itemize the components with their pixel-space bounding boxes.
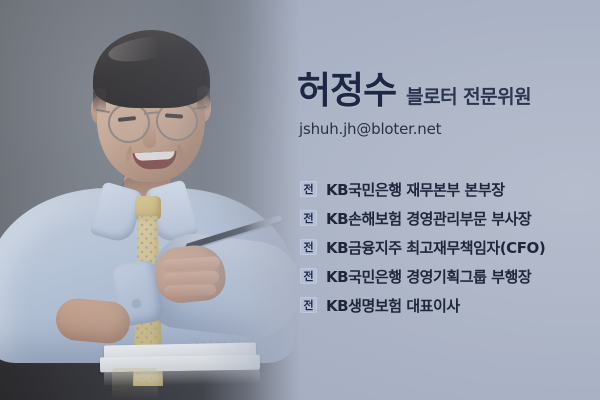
former-badge: 전 <box>300 210 317 226</box>
career-text: KB금융지주 최고재무책임자(CFO) <box>326 237 545 258</box>
former-badge: 전 <box>300 297 317 313</box>
photo-color-grade <box>0 0 300 400</box>
email-address[interactable]: jshuh.jh@bloter.net <box>299 120 441 138</box>
list-item: 전 KB금융지주 최고재무책임자(CFO) <box>300 234 600 260</box>
name-row: 허정수 블로터 전문위원 <box>297 72 531 109</box>
person-role: 블로터 전문위원 <box>406 88 531 107</box>
list-item: 전 KB국민은행 경영기획그룹 부행장 <box>300 263 600 289</box>
list-item: 전 KB생명보험 대표이사 <box>300 292 600 318</box>
career-text: KB손해보험 경영관리부문 부사장 <box>326 208 531 229</box>
former-badge: 전 <box>300 268 317 284</box>
person-name: 허정수 <box>297 72 396 109</box>
career-text: KB국민은행 경영기획그룹 부행장 <box>326 266 531 287</box>
career-text: KB생명보험 대표이사 <box>326 295 460 316</box>
portrait-fade-mask <box>0 0 300 400</box>
list-item: 전 KB국민은행 재무본부 본부장 <box>300 176 600 202</box>
portrait-photo <box>0 0 300 400</box>
list-item: 전 KB손해보험 경영관리부문 부사장 <box>300 205 600 231</box>
info-panel: 허정수 블로터 전문위원 jshuh.jh@bloter.net 전 KB국민은… <box>297 0 600 400</box>
profile-card: 허정수 블로터 전문위원 jshuh.jh@bloter.net 전 KB국민은… <box>0 0 600 400</box>
career-text: KB국민은행 재무본부 본부장 <box>326 179 505 200</box>
career-list: 전 KB국민은행 재무본부 본부장 전 KB손해보험 경영관리부문 부사장 전 … <box>300 176 600 321</box>
former-badge: 전 <box>300 181 317 197</box>
former-badge: 전 <box>300 239 317 255</box>
